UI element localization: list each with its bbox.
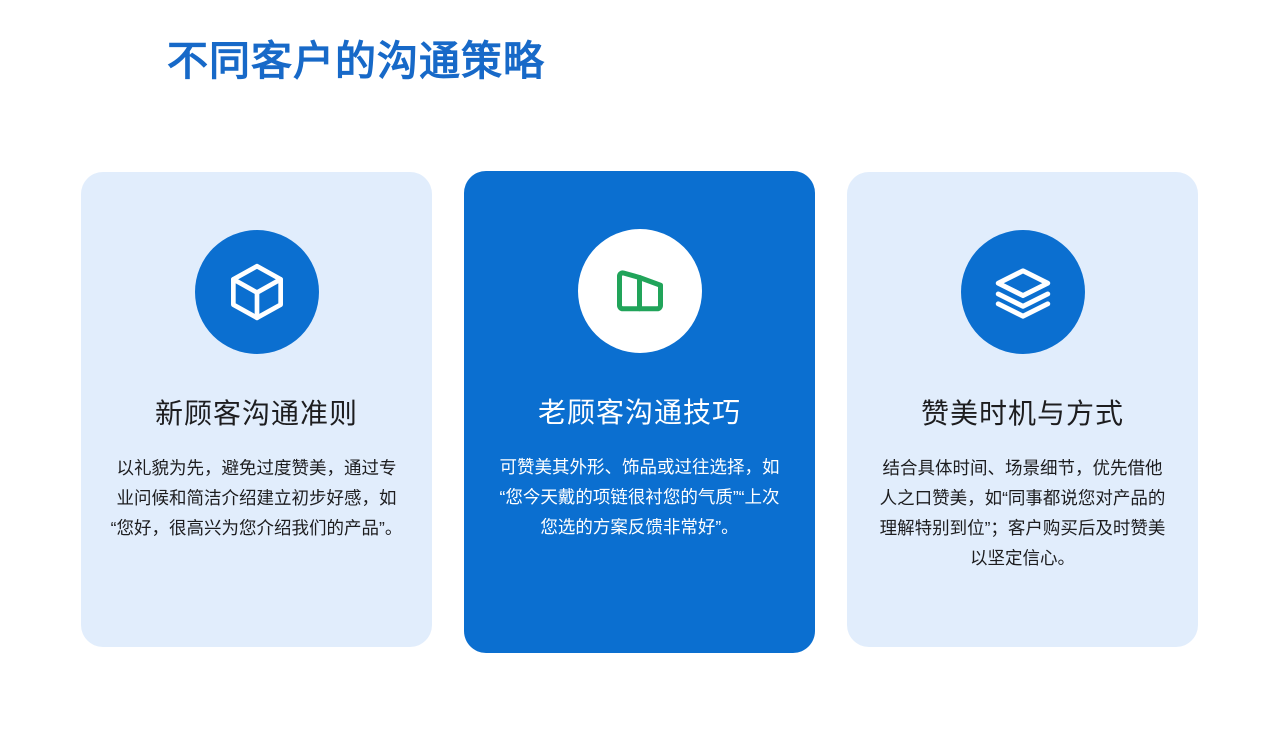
layers-icon bbox=[990, 259, 1056, 325]
card-compliment-timing[interactable]: 赞美时机与方式 结合具体时间、场景细节，优先借他人之口赞美，如“同事都说您对产品… bbox=[847, 172, 1198, 647]
card-new-customer[interactable]: 新顾客沟通准则 以礼貌为先，避免过度赞美，通过专业问候和简洁介绍建立初步好感，如… bbox=[81, 172, 432, 647]
card-body-text: 以礼貌为先，避免过度赞美，通过专业问候和简洁介绍建立初步好感，如“您好，很高兴为… bbox=[109, 453, 404, 543]
card-body-text: 结合具体时间、场景细节，优先借他人之口赞美，如“同事都说您对产品的理解特别到位”… bbox=[875, 453, 1170, 573]
card-returning-customer[interactable]: 老顾客沟通技巧 可赞美其外形、饰品或过往选择，如“您今天戴的项链很衬您的气质”“… bbox=[464, 171, 815, 653]
card-title: 老顾客沟通技巧 bbox=[538, 395, 741, 430]
cube-icon-badge bbox=[195, 230, 319, 354]
page-title: 不同客户的沟通策略 bbox=[167, 38, 545, 85]
slide-canvas: 不同客户的沟通策略 新顾客沟通准则 以礼貌为先，避免过度赞美，通过专业问候和简洁… bbox=[0, 0, 1278, 735]
cube-icon bbox=[224, 259, 290, 325]
open-book-icon-badge bbox=[578, 229, 702, 353]
open-book-icon bbox=[610, 261, 670, 321]
card-body-text: 可赞美其外形、饰品或过往选择，如“您今天戴的项链很衬您的气质”“上次您选的方案反… bbox=[497, 452, 782, 542]
card-row: 新顾客沟通准则 以礼貌为先，避免过度赞美，通过专业问候和简洁介绍建立初步好感，如… bbox=[81, 172, 1198, 654]
layers-icon-badge bbox=[961, 230, 1085, 354]
card-title: 赞美时机与方式 bbox=[921, 396, 1124, 431]
card-title: 新顾客沟通准则 bbox=[155, 396, 358, 431]
